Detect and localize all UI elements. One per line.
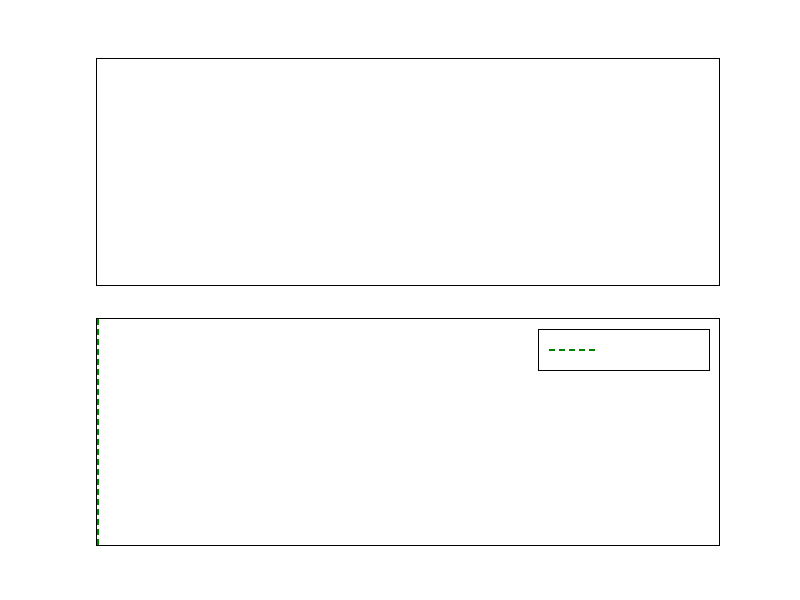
top-plot-area bbox=[97, 59, 719, 285]
figure-canvas bbox=[0, 0, 800, 600]
legend-box bbox=[538, 329, 710, 371]
mag-limit-vline bbox=[97, 319, 99, 545]
top-histogram-axes bbox=[96, 58, 720, 286]
legend-dashed-line-swatch bbox=[549, 349, 595, 351]
